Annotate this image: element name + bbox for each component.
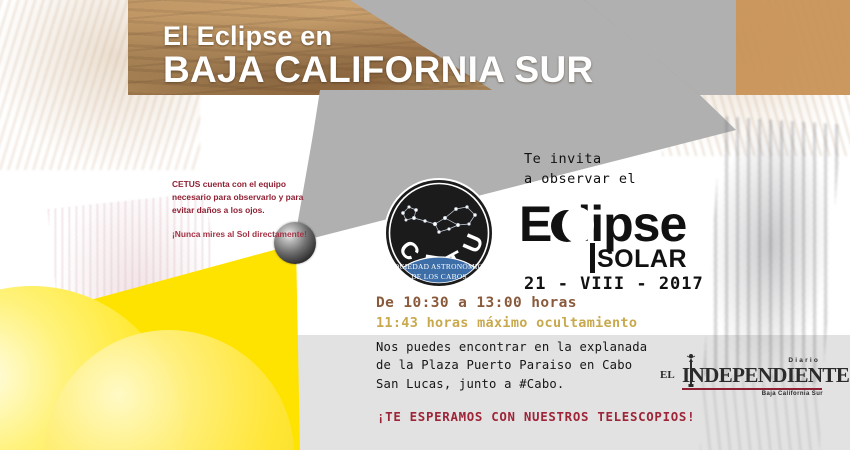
publisher-logo: Diario EL INDEPENDIENTE Baja California … (660, 357, 825, 401)
brush-texture-right (703, 116, 841, 384)
location-line-3: San Lucas, junto a #Cabo. (376, 375, 647, 393)
eclipse-wordmark: Elipse (519, 199, 686, 249)
cetus-subtitle-line-1: SOCIEDAD ASTRONÓMICA (389, 261, 488, 271)
publisher-region: Baja California Sur (762, 391, 823, 397)
publisher-name: INDEPENDIENTE (682, 363, 849, 388)
publisher-rule (682, 388, 822, 390)
headline-line-2: BAJA CALIFORNIA SUR (163, 51, 594, 90)
solar-bar-divider (590, 243, 595, 273)
cetus-logo: C E T U S SOCIEDAD ASTRONÓMICA DE LOS CA… (383, 177, 495, 289)
page-title: El Eclipse en BAJA CALIFORNIA SUR (163, 22, 594, 90)
schedule-line-2: 11:43 horas máximo ocultamiento (376, 314, 637, 332)
call-to-action: ¡TE ESPERAMOS CON NUESTROS TELESCOPIOS! (377, 409, 695, 424)
safety-note: CETUS cuenta con el equipo necesario par… (172, 178, 322, 241)
cetus-subtitle-line-2: DE LOS CABOS (411, 272, 467, 281)
publisher-article: EL (660, 369, 675, 381)
event-date: 21 - VIII - 2017 (524, 274, 704, 294)
schedule-line-1: De 10:30 a 13:00 horas (376, 294, 637, 314)
headline-line-1: El Eclipse en (163, 22, 594, 50)
safety-note-paragraph-1: CETUS cuenta con el equipo necesario par… (172, 178, 322, 217)
location-block: Nos puedes encontrar en la explanada de … (376, 338, 647, 393)
crescent-moon-icon (551, 204, 577, 248)
invitation-text: Te invita a observar el (524, 150, 636, 189)
eclipse-wordmark-prefix: E (519, 196, 551, 252)
invitation-line-1: Te invita (524, 150, 636, 170)
poster-canvas: El Eclipse en BAJA CALIFORNIA SUR CETUS … (0, 0, 850, 450)
invitation-line-2: a observar el (524, 170, 636, 190)
location-line-2: de la Plaza Puerto Paraiso en Cabo (376, 356, 647, 374)
safety-note-paragraph-2: ¡Nunca mires al Sol directamente! (172, 228, 322, 241)
schedule-block: De 10:30 a 13:00 horas 11:43 horas máxim… (376, 294, 637, 332)
solar-wordmark: SOLAR (597, 245, 687, 274)
location-line-1: Nos puedes encontrar en la explanada (376, 338, 647, 356)
